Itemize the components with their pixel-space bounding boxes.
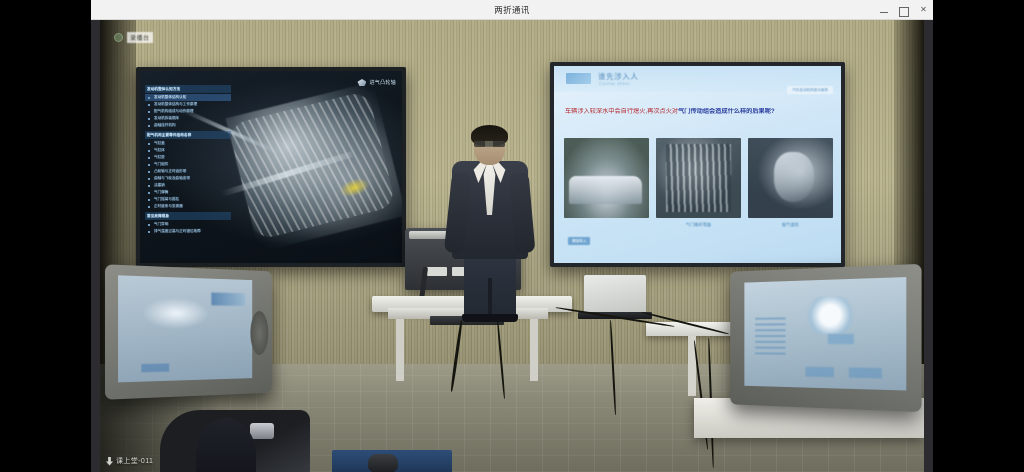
presenter-leg-gap bbox=[488, 278, 492, 318]
pillarbox-right bbox=[924, 20, 933, 472]
slide-course-tag: 汽车发动机构造与维修 bbox=[787, 86, 833, 94]
screen-title-block bbox=[141, 297, 209, 329]
anchor-icon bbox=[106, 457, 113, 466]
monitor-screen[interactable] bbox=[744, 277, 906, 390]
right-wall-display[interactable]: 谁先涉入人 Course sheet 汽车发动机构造与维修 车辆涉入较深水中会自… bbox=[550, 62, 845, 267]
question-prefix: 车辆涉入较深水中会自行熄火,再次点火对 bbox=[565, 108, 678, 115]
close-icon[interactable]: ✕ bbox=[918, 5, 929, 16]
presenter-shoes bbox=[462, 314, 518, 322]
flooded-car-photo bbox=[564, 138, 649, 218]
image-caption: 配气变形 bbox=[748, 222, 833, 228]
watermark-label: 课上堂-011 bbox=[116, 456, 153, 466]
tree-item[interactable]: 气缸体 bbox=[145, 147, 231, 154]
slide-question-text: 车辆涉入较深水中会自行熄火,再次点火对气门传动组会造成什么样的后果呢? bbox=[565, 108, 831, 116]
presenter-glasses bbox=[474, 141, 505, 147]
tree-item[interactable]: 气门异响 bbox=[145, 221, 231, 228]
tree-item[interactable]: 气缸盖 bbox=[145, 140, 231, 147]
tree-item[interactable]: 凸轮轴与正时齿形带 bbox=[145, 168, 231, 175]
screen-subtitle-block bbox=[828, 334, 854, 344]
left-wall-display[interactable]: 发动机整体认知方法 发动机整体结构认知 发动机整体结构与工作原理 配气机构组成与… bbox=[136, 67, 406, 267]
monitor-screen[interactable] bbox=[118, 275, 252, 382]
pillarbox-left bbox=[91, 20, 100, 472]
tree-item[interactable]: 发动机整体结构与工作原理 bbox=[145, 101, 231, 108]
mouse[interactable] bbox=[368, 454, 398, 472]
recording-label: 录播台 bbox=[127, 32, 153, 43]
laptop-lid bbox=[584, 275, 646, 313]
window-controls: ✕ bbox=[878, 0, 929, 20]
video-player-surface[interactable]: 发动机整体认知方法 发动机整体结构认知 发动机整体结构与工作原理 配气机构组成与… bbox=[91, 20, 933, 472]
slide-image-row bbox=[564, 138, 833, 218]
slide-footer-tab[interactable]: 情境导入 bbox=[568, 237, 590, 245]
minimize-icon[interactable] bbox=[878, 5, 889, 16]
tree-item[interactable]: 正时链条与张紧器 bbox=[145, 203, 231, 210]
screenshot-root: 两折通讯 ✕ bbox=[0, 0, 1024, 472]
image-caption: 气门推杆弯曲 bbox=[656, 222, 741, 228]
tree-item[interactable]: 曲轴连杆机构 bbox=[145, 122, 231, 129]
slide-captions-row: 气门推杆弯曲 配气变形 bbox=[564, 222, 833, 228]
slide-subtitle: Course sheet bbox=[599, 81, 630, 86]
software-logo-label: 进气凸轮轴 bbox=[369, 79, 396, 86]
monitor-stand bbox=[250, 311, 268, 355]
software-logo: 进气凸轮轴 bbox=[357, 79, 396, 86]
tree-item[interactable]: 曲轴与飞轮及曲轴皮带 bbox=[145, 175, 231, 182]
slide-badge-icon bbox=[566, 73, 591, 84]
presenter-person bbox=[450, 128, 530, 313]
engine-structure-tree[interactable]: 发动机整体认知方法 发动机整体结构认知 发动机整体结构与工作原理 配气机构组成与… bbox=[145, 83, 231, 257]
student-monitor-left[interactable] bbox=[105, 264, 272, 399]
tree-item[interactable]: 活塞销 bbox=[145, 182, 231, 189]
tree-group-header[interactable]: 常见故障现象 bbox=[145, 212, 231, 220]
tree-item[interactable]: 气门弹簧 bbox=[145, 189, 231, 196]
video-frame: 发动机整体认知方法 发动机整体结构认知 发动机整体结构与工作原理 配气机构组成与… bbox=[100, 20, 924, 472]
tree-item[interactable]: 发动机拆装顺序 bbox=[145, 115, 231, 122]
screen-button-row[interactable] bbox=[805, 367, 881, 378]
image-caption bbox=[564, 222, 649, 228]
student-monitor-right[interactable] bbox=[730, 264, 921, 412]
window-title: 两折通讯 bbox=[494, 4, 530, 16]
tree-group-header[interactable]: 配气机构主要零件结构名称 bbox=[145, 131, 231, 139]
presentation-slide[interactable]: 谁先涉入人 Course sheet 汽车发动机构造与维修 车辆涉入较深水中会自… bbox=[554, 66, 841, 263]
valve-closeup-photo bbox=[748, 138, 833, 218]
camera-icon bbox=[114, 33, 123, 42]
tree-item[interactable]: 气缸垫 bbox=[145, 154, 231, 161]
media-player-window: 两折通讯 ✕ bbox=[91, 0, 933, 472]
wristwatch bbox=[250, 423, 274, 439]
screen-button-block[interactable] bbox=[141, 363, 169, 372]
tree-item[interactable]: 配气机构组成与动作原理 bbox=[145, 108, 231, 115]
gear-diagram-icon bbox=[802, 296, 857, 334]
maximize-icon[interactable] bbox=[898, 5, 909, 16]
tree-item[interactable]: 发动机整体结构认知 bbox=[145, 94, 231, 101]
desk-leg-right bbox=[530, 319, 538, 381]
window-titlebar: 两折通讯 ✕ bbox=[91, 0, 933, 20]
video-watermark: 课上堂-011 bbox=[106, 456, 153, 466]
tree-group-header[interactable]: 发动机整体认知方法 bbox=[145, 85, 231, 93]
engine-bay-photo bbox=[656, 138, 741, 218]
desk-leg-left bbox=[396, 319, 404, 381]
tree-item[interactable]: 气门组件 bbox=[145, 161, 231, 168]
tree-item[interactable]: 排气温度过高与正时错位故障 bbox=[145, 228, 231, 235]
question-highlight: 气门传动组会造成什么样的后果呢? bbox=[678, 108, 775, 115]
tree-item[interactable]: 气门摇臂与挺柱 bbox=[145, 196, 231, 203]
brand-mark-icon bbox=[357, 79, 366, 86]
recording-overlay: 录播台 bbox=[114, 32, 153, 43]
laptop[interactable] bbox=[578, 275, 652, 321]
screen-menu-list[interactable] bbox=[755, 317, 785, 357]
screen-logo-block bbox=[212, 293, 245, 306]
